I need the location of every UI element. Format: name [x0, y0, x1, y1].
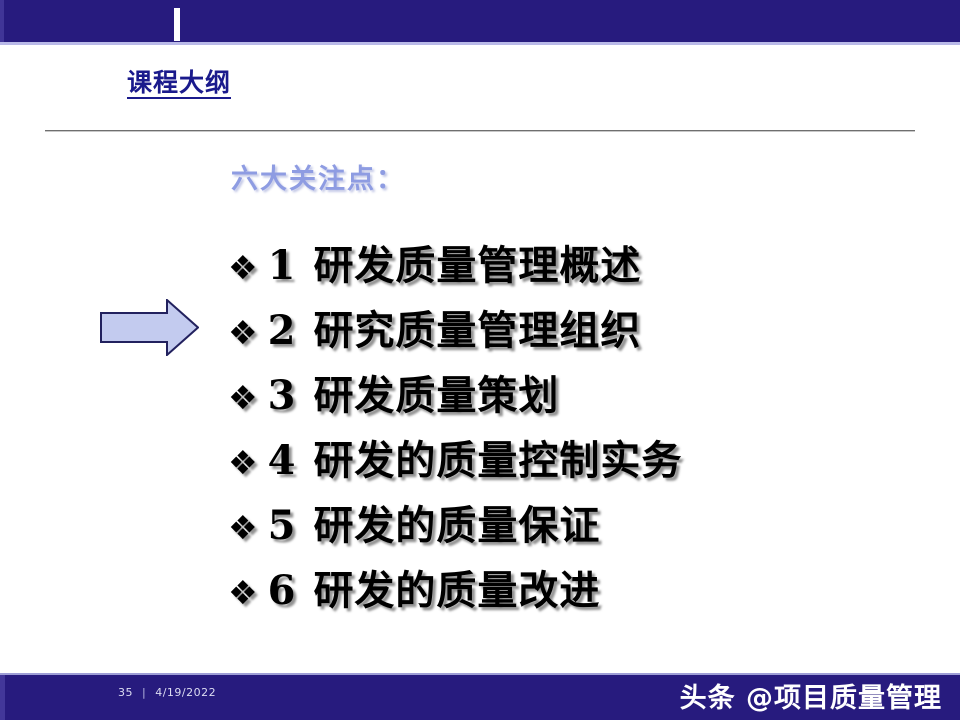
outline-item-6[interactable]: ❖ 6 研发的质量改进: [228, 558, 928, 623]
diamond-bullet-icon: ❖: [228, 316, 258, 349]
header-band-left-edge: [0, 0, 4, 45]
outline-item-number: 6: [268, 567, 296, 614]
outline-item-4[interactable]: ❖ 4 研发的质量控制实务: [228, 428, 928, 493]
outline-item-label: 研发质量管理概述: [313, 233, 641, 291]
footer-band-left-edge: [0, 675, 5, 720]
outline-item-number: 5: [268, 502, 296, 549]
outline-item-number: 3: [268, 372, 296, 419]
outline-item-number: 2: [268, 307, 296, 354]
footer-separator: |: [142, 686, 146, 699]
section-subtitle: 六大关注点：: [231, 157, 405, 196]
diamond-bullet-icon: ❖: [228, 381, 258, 414]
diamond-bullet-icon: ❖: [228, 511, 258, 544]
title-divider: [45, 130, 915, 132]
right-arrow-icon: [100, 299, 199, 356]
outline-item-1[interactable]: ❖ 1 研发质量管理概述: [228, 233, 928, 298]
outline-item-label: 研发的质量保证: [313, 493, 600, 551]
watermark-label: 头条 @项目质量管理: [680, 676, 942, 715]
slide-number: 35: [118, 686, 133, 699]
outline-item-label: 研发的质量改进: [313, 558, 600, 616]
slide-date: 4/19/2022: [155, 686, 216, 699]
outline-item-label: 研究质量管理组织: [313, 298, 641, 356]
diamond-bullet-icon: ❖: [228, 446, 258, 479]
outline-item-number: 4: [268, 437, 296, 484]
text-cursor-mark-icon: [174, 8, 180, 41]
outline-item-number: 1: [268, 242, 296, 289]
outline-item-label: 研发的质量控制实务: [313, 428, 682, 486]
diamond-bullet-icon: ❖: [228, 576, 258, 609]
header-band-underline: [0, 42, 960, 45]
outline-item-2[interactable]: ❖ 2 研究质量管理组织: [228, 298, 928, 363]
page-title: 课程大纲: [127, 70, 231, 99]
diamond-bullet-icon: ❖: [228, 251, 258, 284]
outline-item-3[interactable]: ❖ 3 研发质量策划: [228, 363, 928, 428]
header-band: [0, 0, 960, 42]
outline-list: ❖ 1 研发质量管理概述 ❖ 2 研究质量管理组织 ❖ 3 研发质量策划 ❖ 4…: [228, 233, 928, 623]
outline-item-5[interactable]: ❖ 5 研发的质量保证: [228, 493, 928, 558]
outline-item-label: 研发质量策划: [313, 363, 559, 421]
slide-canvas: 课程大纲 六大关注点： ❖ 1 研发质量管理概述 ❖ 2 研究质量管理组织 ❖ …: [0, 0, 960, 720]
footer-meta: 35 | 4/19/2022: [118, 686, 216, 699]
